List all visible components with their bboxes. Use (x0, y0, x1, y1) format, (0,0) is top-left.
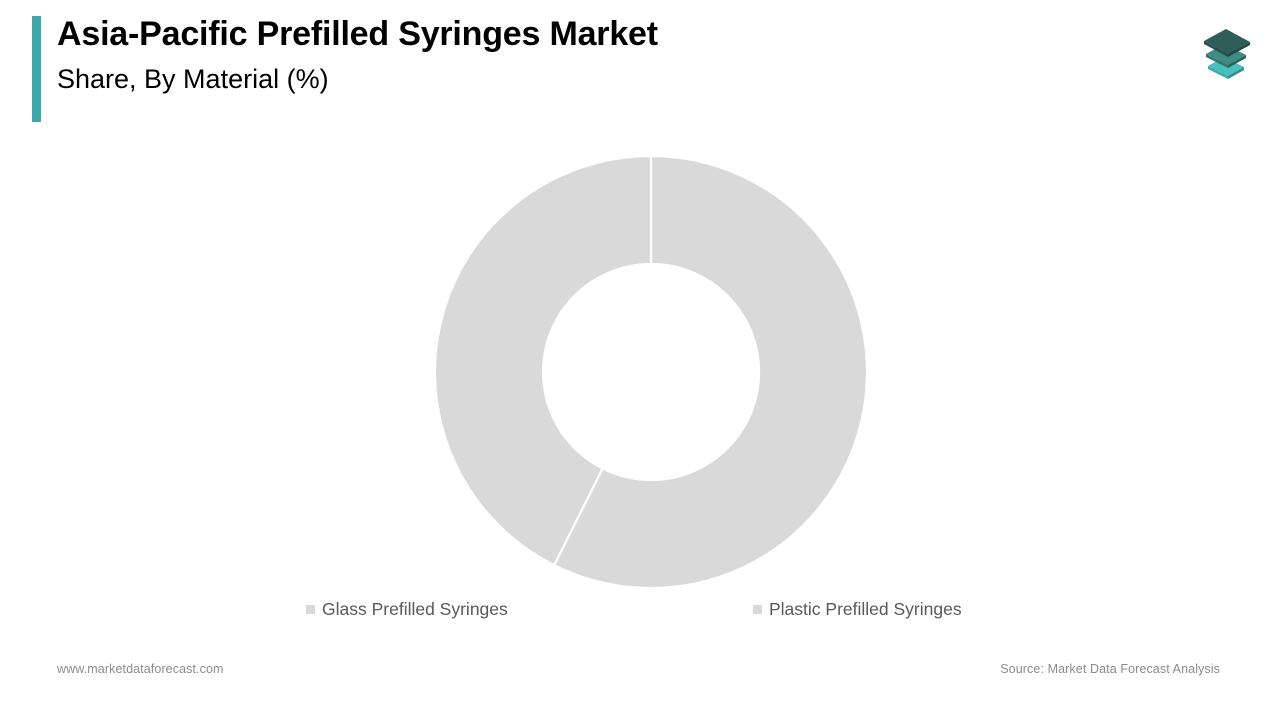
donut-chart (434, 155, 868, 589)
page-subtitle: Share, By Material (%) (57, 59, 1137, 99)
chart-legend: Glass Prefilled Syringes Plastic Prefill… (0, 596, 1280, 624)
page-title: Asia-Pacific Prefilled Syringes Market (57, 12, 1137, 56)
header: Asia-Pacific Prefilled Syringes Market S… (0, 0, 1280, 135)
legend-item-label: Glass Prefilled Syringes (322, 599, 508, 619)
legend-item-plastic-prefilled-syringes[interactable]: Plastic Prefilled Syringes (753, 596, 962, 622)
donut-chart-svg (434, 155, 868, 589)
legend-swatch-icon (306, 605, 315, 614)
footer-website-link[interactable]: www.marketdataforecast.com (57, 662, 224, 676)
title-block: Asia-Pacific Prefilled Syringes Market S… (57, 12, 1137, 99)
chart-area (0, 135, 1280, 625)
footer-source-note: Source: Market Data Forecast Analysis (1000, 662, 1220, 676)
stacked-layers-logo-icon (1194, 22, 1258, 82)
donut-slice-group (435, 156, 867, 588)
legend-item-glass-prefilled-syringes[interactable]: Glass Prefilled Syringes (306, 596, 508, 622)
legend-item-label: Plastic Prefilled Syringes (769, 599, 962, 619)
legend-swatch-icon (753, 605, 762, 614)
footer: www.marketdataforecast.com Source: Marke… (0, 655, 1280, 695)
title-accent-bar (32, 16, 41, 122)
